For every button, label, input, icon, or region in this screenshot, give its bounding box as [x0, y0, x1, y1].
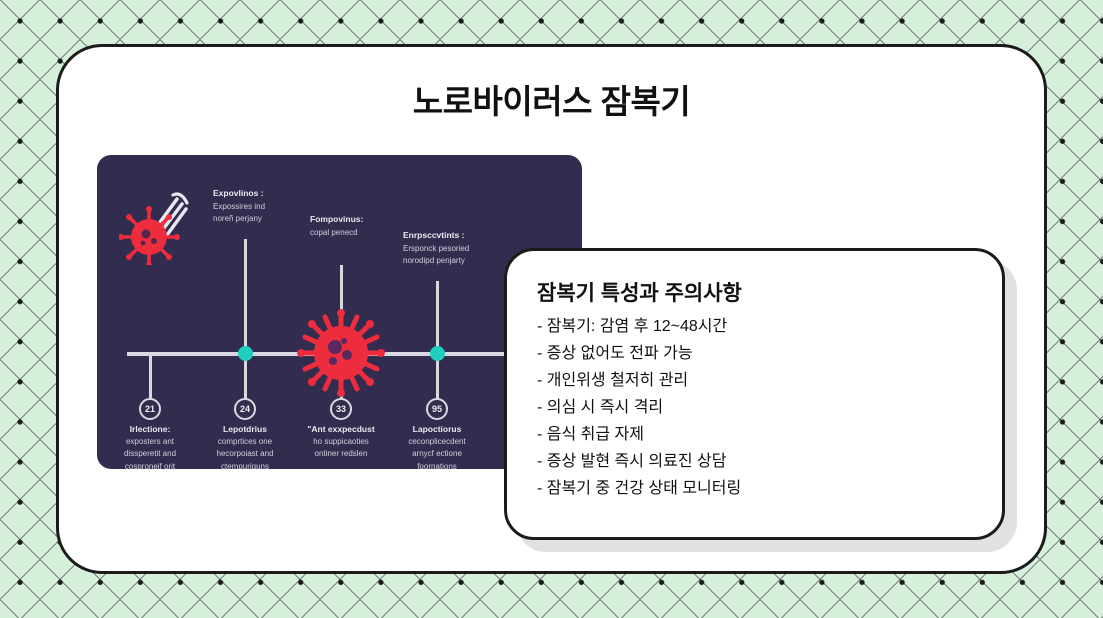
label-line: arnycf ectione	[393, 448, 481, 460]
callout-bullet: - 증상 없어도 전파 가능	[537, 346, 972, 362]
label-heading: Lepotdrius	[201, 423, 289, 436]
timeline-stem-up	[244, 239, 247, 351]
timeline-bottom-label: Lapoctiorus ceconplicecdent arnycf ectio…	[393, 423, 481, 469]
timeline-bottom-label: "Ant exxpecdust ho suppicaoties ontiner …	[297, 423, 385, 461]
timeline-node[interactable]	[238, 346, 253, 361]
label-line: hecorpoiast and	[201, 448, 289, 460]
label-heading: Lapoctiorus	[393, 423, 481, 436]
callout-bullet: - 의심 시 즉시 격리	[537, 400, 972, 416]
timeline-stem-up	[436, 281, 439, 351]
callout-heading: 잠복기 특성과 주의사항	[537, 277, 972, 307]
callout-bullet: - 개인위생 철저히 관리	[537, 373, 972, 389]
timeline-bottom-label: Lepotdrius comprtices one hecorpoiast an…	[201, 423, 289, 469]
label-heading: Expovlinos :	[213, 187, 305, 199]
label-line: cosproneif orit	[106, 461, 194, 469]
label-line: copal penecd	[310, 227, 402, 239]
timeline-top-label: Enrpsccvtints : Ersponck pesoried norodi…	[403, 229, 495, 267]
label-line: ontiner redslen	[297, 448, 385, 460]
label-line: foornations	[393, 461, 481, 469]
timeline-top-label: Fompovinus: copal penecd	[310, 213, 402, 239]
timeline-badge: 95	[426, 398, 448, 420]
virus-small-icon	[119, 185, 189, 265]
timeline-bottom-label: Irlectione: exposters ant dissperetit an…	[106, 423, 194, 469]
timeline-badge: 21	[139, 398, 161, 420]
label-line: noreñ perjany	[213, 213, 305, 225]
timeline-badge: 24	[234, 398, 256, 420]
label-line: dissperetit and	[106, 448, 194, 460]
callout-bullet: - 잠복기: 감염 후 12~48시간	[537, 319, 972, 335]
callout-bullet: - 증상 발현 즉시 의료진 상담	[537, 454, 972, 470]
label-line: Expossires ind	[213, 201, 305, 213]
timeline-badge: 33	[330, 398, 352, 420]
label-line: ctempuriguns	[201, 461, 289, 469]
timeline-top-label: Expovlinos : Expossires ind noreñ perjan…	[213, 187, 305, 225]
label-heading: "Ant exxpecdust	[297, 423, 385, 436]
label-line: comprtices one	[201, 436, 289, 448]
callout-bullet: - 잠복기 중 건강 상태 모니터링	[537, 481, 972, 497]
page-title: 노로바이러스 잠복기	[59, 75, 1044, 123]
callout-card: 잠복기 특성과 주의사항 - 잠복기: 감염 후 12~48시간 - 증상 없어…	[504, 248, 1005, 540]
label-line: ho suppicaoties	[297, 436, 385, 448]
label-heading: Fompovinus:	[310, 213, 402, 225]
timeline-stem	[149, 354, 152, 400]
label-line: exposters ant	[106, 436, 194, 448]
label-heading: Irlectione:	[106, 423, 194, 436]
label-line: ceconplicecdent	[393, 436, 481, 448]
callout-bullet: - 음식 취급 자제	[537, 427, 972, 443]
timeline-node[interactable]	[430, 346, 445, 361]
label-line: norodipd penjarty	[403, 255, 495, 267]
label-heading: Enrpsccvtints :	[403, 229, 495, 241]
virus-large-icon	[295, 307, 387, 399]
label-line: Ersponck pesoried	[403, 243, 495, 255]
